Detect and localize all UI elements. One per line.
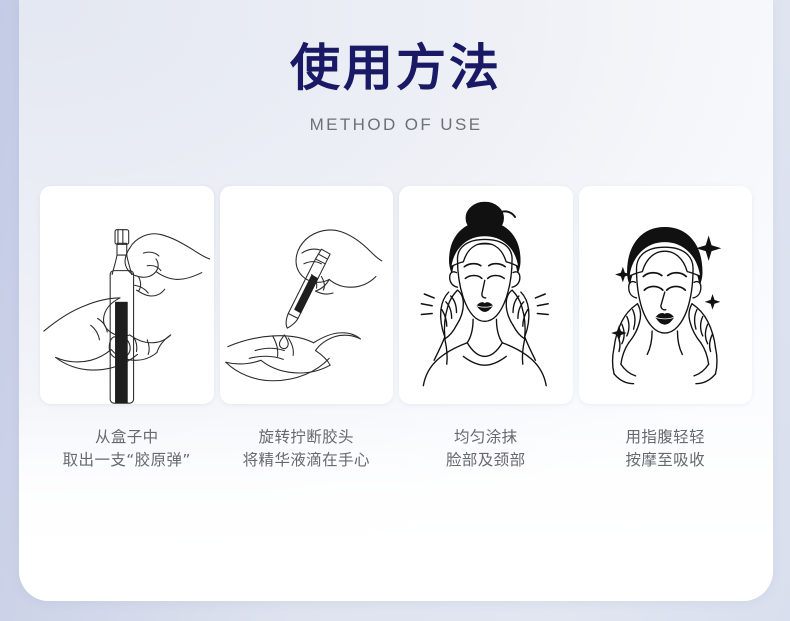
step-caption-1-line1: 从盒子中 — [40, 426, 214, 449]
hand-dripping-serum-into-palm-illustration — [220, 186, 394, 404]
step-caption-1-line2: 取出一支“胶原弹” — [40, 449, 214, 472]
step-caption-4: 用指腹轻轻 按摩至吸收 — [579, 426, 753, 472]
steps-row: 从盒子中 取出一支“胶原弹” — [19, 186, 773, 472]
header: 使用方法 METHOD OF USE — [19, 0, 773, 135]
step-item-3: 均匀涂抹 脸部及颈部 — [399, 186, 573, 472]
step-caption-1: 从盒子中 取出一支“胶原弹” — [40, 426, 214, 472]
step-item-4: 用指腹轻轻 按摩至吸收 — [579, 186, 753, 472]
step-illustration-card-4 — [579, 186, 753, 404]
two-hands-holding-ampoule-illustration — [40, 186, 214, 404]
step-illustration-card-3 — [399, 186, 573, 404]
step-caption-3-line2: 脸部及颈部 — [399, 449, 573, 472]
step-caption-4-line2: 按摩至吸收 — [579, 449, 753, 472]
content-panel: 使用方法 METHOD OF USE — [19, 0, 773, 601]
step-caption-2: 旋转拧断胶头 将精华液滴在手心 — [220, 426, 394, 472]
woman-applying-serum-to-face-illustration — [399, 186, 573, 404]
page-subtitle: METHOD OF USE — [19, 115, 773, 135]
step-caption-3-line1: 均匀涂抹 — [399, 426, 573, 449]
page-background: 使用方法 METHOD OF USE — [0, 0, 790, 621]
step-item-1: 从盒子中 取出一支“胶原弹” — [40, 186, 214, 472]
step-caption-2-line2: 将精华液滴在手心 — [220, 449, 394, 472]
step-caption-2-line1: 旋转拧断胶头 — [220, 426, 394, 449]
step-item-2: 旋转拧断胶头 将精华液滴在手心 — [220, 186, 394, 472]
step-caption-4-line1: 用指腹轻轻 — [579, 426, 753, 449]
page-title: 使用方法 — [19, 42, 773, 95]
woman-massaging-face-with-fingertips-illustration — [579, 186, 753, 404]
step-caption-3: 均匀涂抹 脸部及颈部 — [399, 426, 573, 472]
step-illustration-card-1 — [40, 186, 214, 404]
step-illustration-card-2 — [220, 186, 394, 404]
